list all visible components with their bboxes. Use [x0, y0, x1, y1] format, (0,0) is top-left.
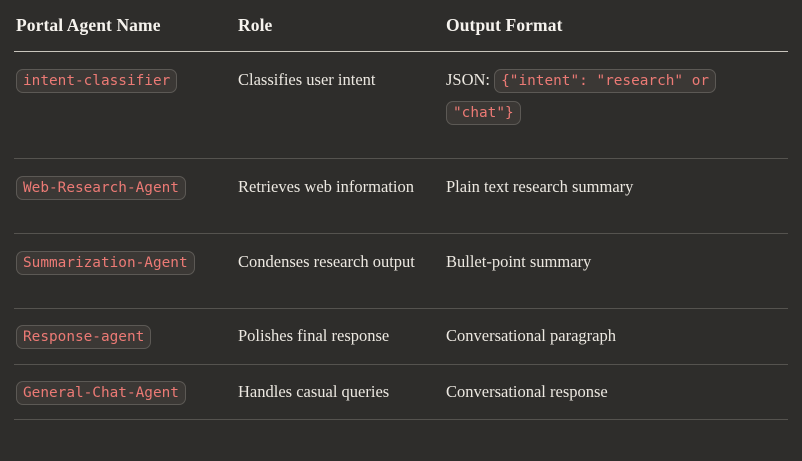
column-header-agent-name: Portal Agent Name: [14, 10, 236, 51]
cell-output-format: Bullet-point summary: [444, 234, 788, 309]
cell-output-format: Conversational paragraph: [444, 309, 788, 364]
cell-agent-name: Web-Research-Agent: [14, 159, 236, 234]
cell-agent-name: intent-classifier: [14, 51, 236, 158]
cell-role: Condenses research output: [236, 234, 444, 309]
agent-name-code: Web-Research-Agent: [16, 176, 186, 200]
cell-role: Polishes final response: [236, 309, 444, 364]
column-header-output-format: Output Format: [444, 10, 788, 51]
cell-role: Handles casual queries: [236, 364, 444, 419]
table-row: General-Chat-Agent Handles casual querie…: [14, 364, 788, 419]
portal-agents-table: Portal Agent Name Role Output Format int…: [14, 10, 788, 420]
table-row: Response-agent Polishes final response C…: [14, 309, 788, 364]
cell-agent-name: Summarization-Agent: [14, 234, 236, 309]
agent-name-code: General-Chat-Agent: [16, 381, 186, 405]
cell-output-format: JSON: {"intent": "research" or "chat"}: [444, 51, 788, 158]
cell-output-format: Plain text research summary: [444, 159, 788, 234]
cell-role: Retrieves web information: [236, 159, 444, 234]
cell-role: Classifies user intent: [236, 51, 444, 158]
agent-name-code: intent-classifier: [16, 69, 177, 93]
table-header: Portal Agent Name Role Output Format: [14, 10, 788, 51]
cell-agent-name: Response-agent: [14, 309, 236, 364]
table-row: Summarization-Agent Condenses research o…: [14, 234, 788, 309]
table-header-row: Portal Agent Name Role Output Format: [14, 10, 788, 51]
output-prefix-label: JSON:: [446, 70, 490, 89]
table-row: Web-Research-Agent Retrieves web informa…: [14, 159, 788, 234]
column-header-role: Role: [236, 10, 444, 51]
agent-reference-table-page: Portal Agent Name Role Output Format int…: [0, 10, 802, 461]
cell-output-format: Conversational response: [444, 364, 788, 419]
cell-agent-name: General-Chat-Agent: [14, 364, 236, 419]
table-row: intent-classifier Classifies user intent…: [14, 51, 788, 158]
agent-name-code: Response-agent: [16, 325, 151, 349]
agent-name-code: Summarization-Agent: [16, 251, 195, 275]
table-body: intent-classifier Classifies user intent…: [14, 51, 788, 419]
